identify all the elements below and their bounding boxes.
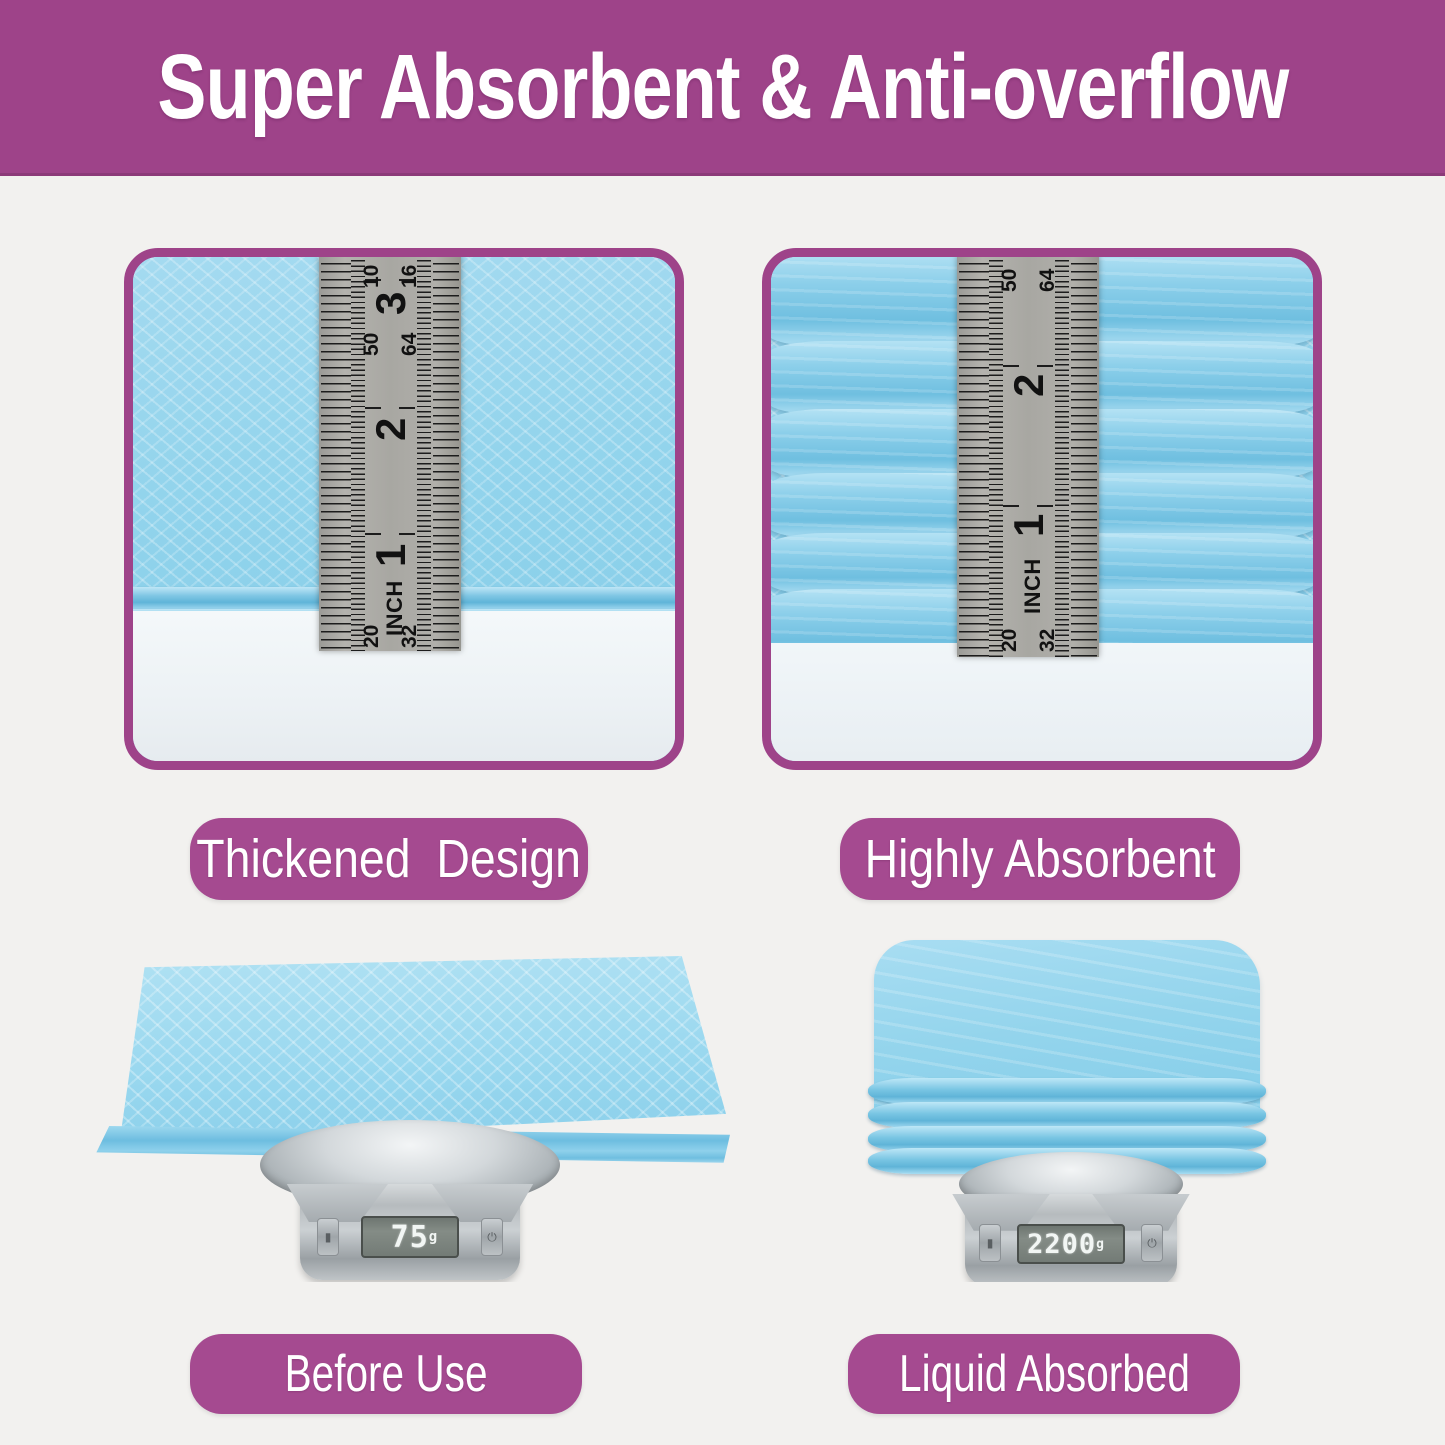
product-photo-highly-absorbent: 2 1 INCH 50 20 64 32 (771, 257, 1313, 761)
steel-ruler-left: 3 2 1 INCH 10 50 20 16 64 32 (319, 257, 461, 651)
digital-scale-before-use: 75 g ▮ ⏻ (190, 1120, 630, 1280)
scale-unit: g (1096, 1237, 1104, 1252)
scale-unit: g (429, 1229, 437, 1245)
power-icon: ⏻ (1147, 1237, 1157, 1249)
power-icon: ⏻ (487, 1231, 497, 1243)
badge-before-use: Before Use (190, 1334, 582, 1414)
scale-lcd-display: 2200 g (1017, 1224, 1125, 1264)
product-photo-thickened-design: 3 2 1 INCH 10 50 20 16 64 32 (133, 257, 675, 761)
product-photo-before-use: 75 g ▮ ⏻ (60, 930, 760, 1282)
ruler-inch-mark-1: 1 (367, 527, 415, 567)
ruler-metric-mark-32: 32 (1036, 622, 1060, 652)
flat-pad (94, 956, 726, 1144)
badge-label: Highly Absorbent (864, 832, 1215, 886)
tare-icon: ▮ (325, 1231, 332, 1243)
scale-body: 75 g ▮ ⏻ (300, 1184, 520, 1280)
ruler-metric-mark-32: 32 (398, 618, 422, 648)
ruler-ticks-outer-right (1071, 257, 1097, 657)
scale-body: 2200 g ▮ ⏻ (965, 1194, 1177, 1282)
ruler-inch-mark-2: 2 (367, 401, 415, 441)
ruler-metric-mark-64: 64 (398, 326, 422, 356)
scale-reading: 75 (391, 1220, 429, 1255)
ruler-ticks-outer-right (433, 257, 459, 651)
ruler-inch-mark-1: 1 (1005, 497, 1053, 537)
digital-scale-liquid-absorbed: 2200 g ▮ ⏻ (936, 1152, 1206, 1282)
scale-tare-button[interactable]: ▮ (317, 1218, 339, 1256)
ruler-inch-mark-2: 2 (1005, 357, 1053, 397)
ruler-metric-mark-20: 20 (360, 618, 384, 648)
ruler-ticks-inner-left (989, 257, 1003, 657)
ruler-metric-mark-50: 50 (360, 326, 384, 356)
ruler-ticks-inner-right (1055, 257, 1069, 657)
ruler-metric-mark-16: 16 (398, 258, 422, 288)
badge-highly-absorbent: Highly Absorbent (840, 818, 1240, 900)
scale-power-button[interactable]: ⏻ (481, 1218, 503, 1256)
photo-frame-thickened-design: 3 2 1 INCH 10 50 20 16 64 32 (124, 248, 684, 770)
ruler-metric-mark-50: 50 (998, 262, 1022, 292)
ruler-metric-mark-10: 10 (360, 258, 384, 288)
table-surface (771, 643, 1313, 761)
badge-thickened-design: Thickened Design (190, 818, 588, 900)
swollen-pad-fold (868, 1078, 1266, 1104)
ruler-metric-mark-64: 64 (1036, 262, 1060, 292)
scale-power-button[interactable]: ⏻ (1141, 1224, 1163, 1262)
swollen-pad-fold (868, 1102, 1266, 1128)
badge-label: Before Use (285, 1348, 488, 1400)
ruler-unit-label: INCH (1020, 550, 1046, 614)
steel-ruler-right: 2 1 INCH 50 20 64 32 (957, 257, 1099, 657)
photo-frame-highly-absorbent: 2 1 INCH 50 20 64 32 (762, 248, 1322, 770)
scale-reading: 2200 (1027, 1229, 1096, 1260)
scale-tare-button[interactable]: ▮ (979, 1224, 1001, 1262)
product-photo-liquid-absorbed: 2200 g ▮ ⏻ (840, 928, 1292, 1282)
badge-liquid-absorbed: Liquid Absorbed (848, 1334, 1240, 1414)
page-title: Super Absorbent & Anti-overflow (157, 41, 1288, 133)
header-banner: Super Absorbent & Anti-overflow (0, 0, 1445, 176)
ruler-ticks-inner-right (417, 257, 431, 651)
ruler-ticks-inner-left (351, 257, 365, 651)
scale-lcd-display: 75 g (361, 1216, 459, 1258)
tare-icon: ▮ (987, 1237, 994, 1249)
badge-label: Thickened Design (197, 832, 582, 886)
ruler-ticks-outer-left (321, 257, 351, 651)
ruler-ticks-outer-left (959, 257, 989, 657)
badge-label: Liquid Absorbed (899, 1348, 1190, 1400)
ruler-metric-mark-20: 20 (998, 622, 1022, 652)
